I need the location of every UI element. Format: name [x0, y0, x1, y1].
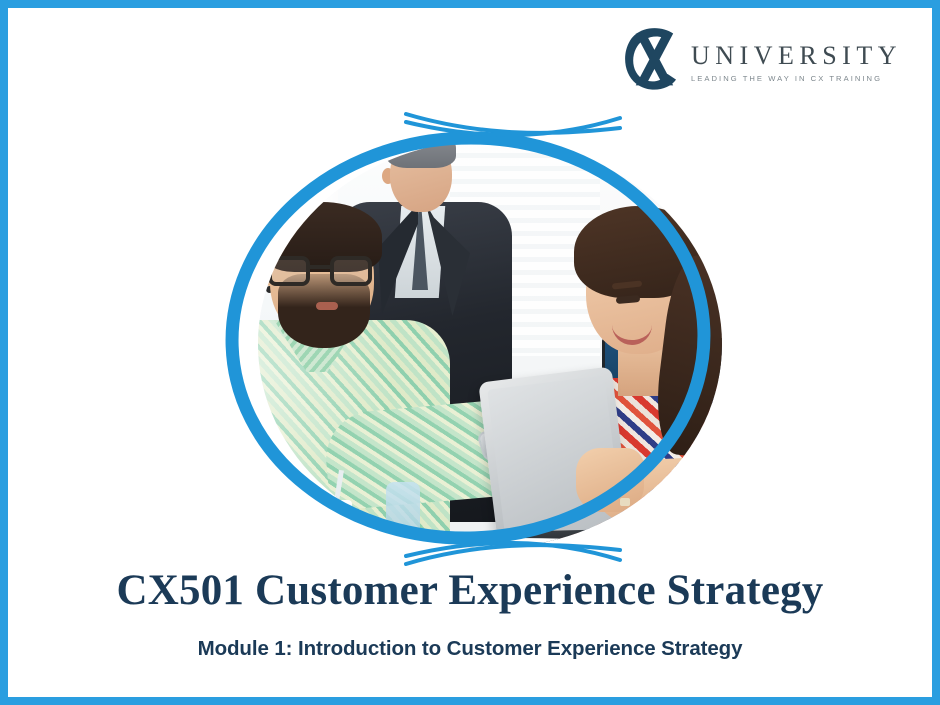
ellipse-ring-icon	[225, 130, 711, 546]
logo-tagline: LEADING THE WAY IN CX TRAINING	[691, 75, 902, 83]
title-slide: UNIVERSITY LEADING THE WAY IN CX TRAININ…	[0, 0, 940, 705]
cx-university-logo: UNIVERSITY LEADING THE WAY IN CX TRAININ…	[617, 22, 902, 94]
logo-wordmark: UNIVERSITY	[691, 43, 902, 69]
page-subtitle: Module 1: Introduction to Customer Exper…	[0, 637, 940, 661]
logo-text-block: UNIVERSITY LEADING THE WAY IN CX TRAININ…	[691, 33, 902, 83]
page-title: CX501 Customer Experience Strategy	[0, 566, 940, 615]
cx-monogram-icon	[617, 22, 689, 94]
hero-graphic	[150, 106, 810, 572]
ellipse-ring-graphic	[150, 106, 810, 572]
